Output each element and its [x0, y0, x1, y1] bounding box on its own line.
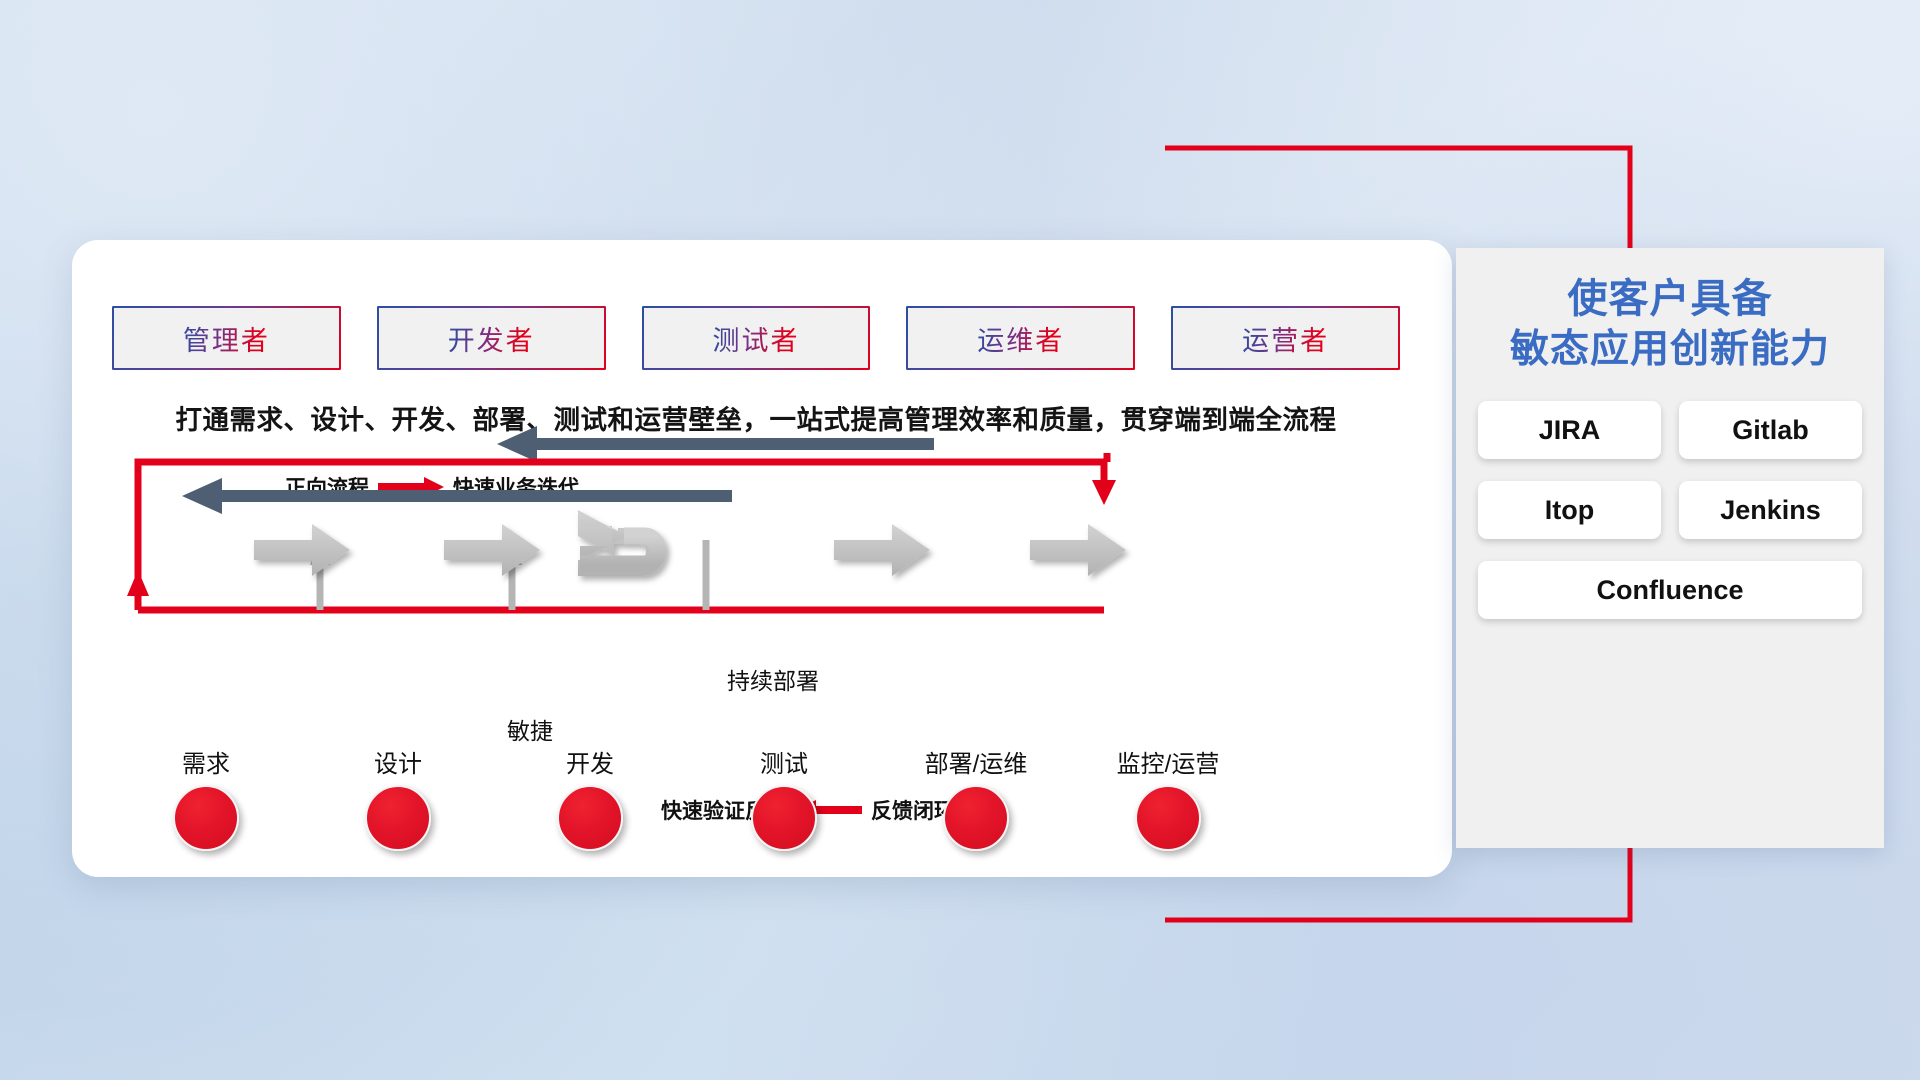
flow-arrow-design-to-development: [444, 524, 540, 576]
band-arrow-continuous-deployment: [497, 426, 934, 462]
stage-node-deploy-ops[interactable]: [943, 785, 1009, 851]
band-label-agile: 敏捷: [507, 712, 553, 746]
stage-node-test[interactable]: [751, 785, 817, 851]
panel-title: 使客户具备 敏态应用创新能力: [1456, 248, 1884, 375]
stage-node-monitor-operations[interactable]: [1135, 785, 1201, 851]
stage-label-test: 测试: [760, 744, 808, 779]
stage-label-monitor-operations: 监控/运营: [1117, 744, 1220, 779]
band-label-continuous-deployment: 持续部署: [727, 662, 819, 696]
band-arrow-agile: [182, 478, 732, 514]
stage-label-deploy-ops: 部署/运维: [925, 744, 1028, 779]
panel-title-line2: 敏态应用创新能力: [1456, 325, 1884, 375]
tool-chip-grid: JIRA Gitlab Itop Jenkins Confluence: [1478, 401, 1862, 619]
tool-chip-itop[interactable]: Itop: [1478, 481, 1661, 539]
stage-node-design[interactable]: [365, 785, 431, 851]
stage-label-design: 设计: [374, 744, 422, 779]
tool-chip-confluence[interactable]: Confluence: [1478, 561, 1862, 619]
stage-label-development: 开发: [566, 744, 614, 779]
panel-title-line1: 使客户具备: [1568, 277, 1773, 321]
stage-label-requirement: 需求: [182, 744, 230, 779]
value-proposition-panel: 使客户具备 敏态应用创新能力 JIRA Gitlab Itop Jenkins …: [1456, 248, 1884, 848]
flow-arrow-requirement-to-design: [254, 524, 350, 576]
tool-chip-gitlab[interactable]: Gitlab: [1679, 401, 1862, 459]
flow-arrow-test-to-deploy: [834, 524, 930, 576]
tool-chip-jira[interactable]: JIRA: [1478, 401, 1661, 459]
tool-chip-jenkins[interactable]: Jenkins: [1679, 481, 1862, 539]
devops-flow-diagram: [72, 240, 1452, 877]
flow-arrow-deploy-to-monitor: [1030, 524, 1126, 576]
flow-arrow-development-to-test-uturn: [578, 510, 666, 576]
stage-node-development[interactable]: [557, 785, 623, 851]
stage-node-requirement[interactable]: [173, 785, 239, 851]
